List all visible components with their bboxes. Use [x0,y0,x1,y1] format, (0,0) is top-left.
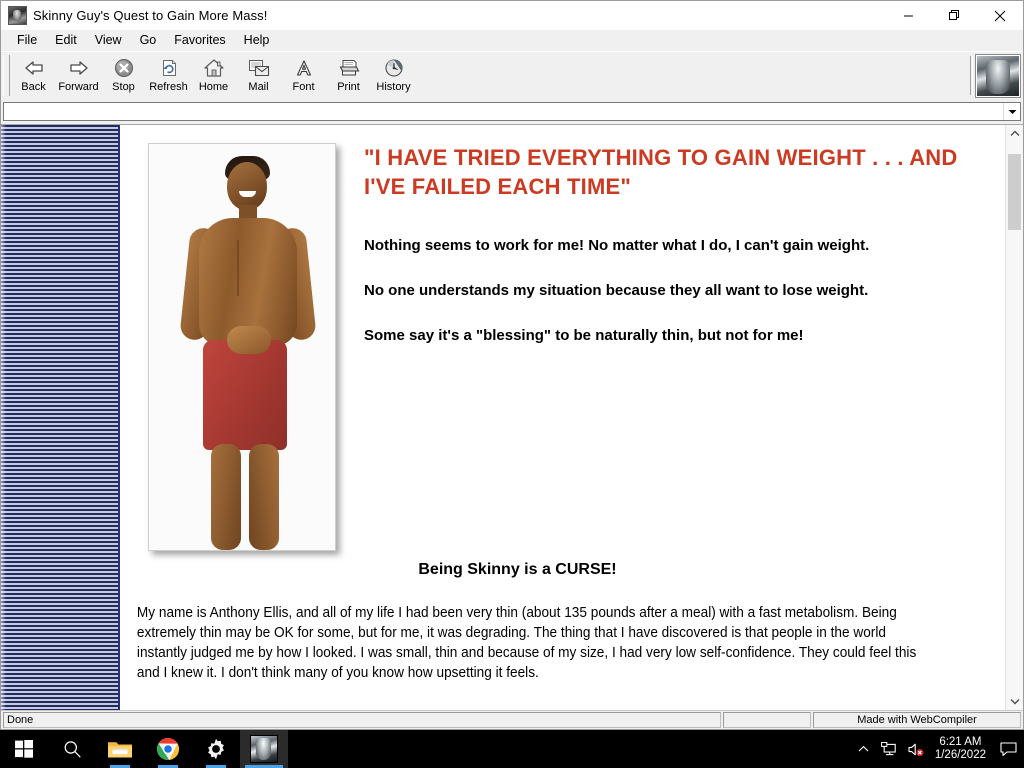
intro-paragraph-3: Some say it's a "blessing" to be natural… [364,325,981,346]
page-body-text: My name is Anthony Ellis, and all of my … [120,603,952,683]
status-text: Done [3,712,721,728]
toolbar-grip[interactable] [3,55,10,96]
intro-block: "I HAVE TRIED EVERYTHING TO GAIN WEIGHT … [120,125,1005,551]
status-credit-panel: Made with WebCompiler [813,712,1021,728]
font-button[interactable]: Font [281,54,326,93]
page-sidebar-stripes [1,125,120,710]
font-label: Font [292,81,314,93]
address-bar-row [1,99,1023,124]
status-bar: Done Made with WebCompiler [1,710,1023,729]
window-controls [885,1,1023,30]
address-input[interactable] [4,103,1003,120]
minimize-button[interactable] [885,1,931,30]
refresh-page-icon [159,56,179,80]
file-explorer-button[interactable] [96,730,144,768]
intro-paragraph-2: No one understands my situation because … [364,280,981,301]
chrome-button[interactable] [144,730,192,768]
menu-item-go[interactable]: Go [131,32,166,49]
intro-text-column: "I HAVE TRIED EVERYTHING TO GAIN WEIGHT … [336,143,1005,370]
close-button[interactable] [977,1,1023,30]
clock-time: 6:21 AM [935,736,986,749]
forward-label: Forward [58,81,98,93]
clock[interactable]: 6:21 AM 1/26/2022 [929,736,994,762]
stop-button[interactable]: Stop [101,54,146,93]
network-icon[interactable] [877,730,903,768]
scrollbar-thumb[interactable] [1008,154,1021,230]
volume-muted-icon[interactable] [903,730,929,768]
settings-button[interactable] [192,730,240,768]
page-subheading: Being Skinny is a CURSE! [120,561,1005,579]
print-label: Print [337,81,360,93]
print-button[interactable]: Print [326,54,371,93]
menu-item-help[interactable]: Help [235,32,279,49]
menu-bar: File Edit View Go Favorites Help [1,30,1023,51]
windows-logo-icon [15,740,33,758]
scrollbar-track[interactable] [1006,142,1023,693]
stop-label: Stop [112,81,135,93]
thin-man-photo [148,143,336,551]
browser-window: Skinny Guy's Quest to Gain More Mass! [0,0,1024,730]
bodybuilder-icon [8,6,27,25]
window-title: Skinny Guy's Quest to Gain More Mass! [33,8,268,23]
bodybuilder-logo [975,54,1021,98]
scroll-up-icon[interactable] [1006,125,1023,142]
search-button[interactable] [48,730,96,768]
screen: Skinny Guy's Quest to Gain More Mass! [0,0,1024,768]
refresh-button[interactable]: Refresh [146,54,191,93]
chevron-down-icon[interactable] [1003,103,1020,120]
folder-icon [107,738,133,760]
status-middle-panel [723,712,811,728]
menu-item-file[interactable]: File [8,32,46,49]
toolbar-separator [970,56,973,95]
arrow-right-icon [68,56,90,80]
history-label: History [376,81,410,93]
back-button[interactable]: Back [11,54,56,93]
chevron-up-icon[interactable] [851,730,877,768]
home-label: Home [199,81,228,93]
mail-icon [247,56,271,80]
windows-taskbar: 6:21 AM 1/26/2022 [0,730,1024,768]
stop-x-icon [114,56,134,80]
start-button[interactable] [0,730,48,768]
font-a-icon [294,56,314,80]
address-bar[interactable] [3,102,1021,121]
chrome-icon [156,737,180,761]
toolbar-buttons: Back Forward [11,52,416,99]
printer-icon [337,56,361,80]
skinny-guy-app-button[interactable] [240,730,288,768]
clock-date: 1/26/2022 [935,749,986,762]
bodybuilder-icon [250,735,278,763]
back-label: Back [21,81,45,93]
intro-paragraph-1: Nothing seems to work for me! No matter … [364,235,981,256]
notification-icon[interactable] [994,730,1022,768]
refresh-label: Refresh [149,81,188,93]
restore-button[interactable] [931,1,977,30]
scroll-down-icon[interactable] [1006,693,1023,710]
vertical-scrollbar[interactable] [1005,125,1023,710]
title-bar: Skinny Guy's Quest to Gain More Mass! [1,1,1023,30]
mail-label: Mail [248,81,268,93]
home-button[interactable]: Home [191,54,236,93]
forward-button[interactable]: Forward [56,54,101,93]
history-clock-icon [383,56,405,80]
search-icon [63,740,82,759]
arrow-left-icon [23,56,45,80]
menu-item-view[interactable]: View [86,32,131,49]
history-button[interactable]: History [371,54,416,93]
page-headline: "I HAVE TRIED EVERYTHING TO GAIN WEIGHT … [364,143,981,201]
toolbar: Back Forward [1,51,1023,99]
menu-item-favorites[interactable]: Favorites [165,32,234,49]
photo-container [148,143,336,551]
mail-button[interactable]: Mail [236,54,281,93]
page-content-area: "I HAVE TRIED EVERYTHING TO GAIN WEIGHT … [1,124,1023,710]
system-tray: 6:21 AM 1/26/2022 [851,730,1024,768]
home-icon [203,56,225,80]
menu-item-edit[interactable]: Edit [46,32,86,49]
page-content: "I HAVE TRIED EVERYTHING TO GAIN WEIGHT … [120,125,1005,710]
gear-icon [205,738,227,760]
